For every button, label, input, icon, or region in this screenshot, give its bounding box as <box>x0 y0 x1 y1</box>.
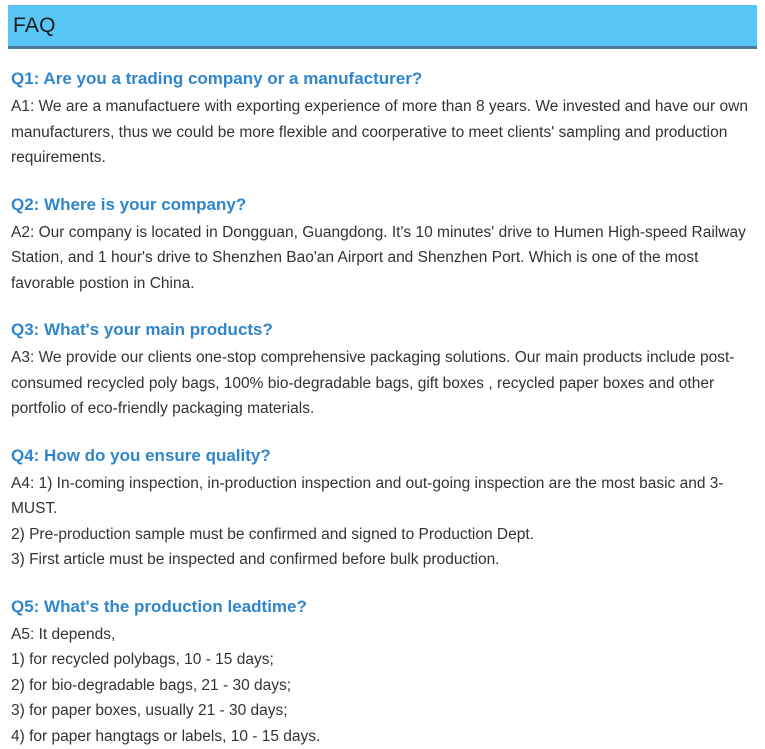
faq-page: FAQ Q1: Are you a trading company or a m… <box>0 0 765 748</box>
faq-answer: A1: We are a manufactuere with exporting… <box>11 94 751 171</box>
faq-answer-line: 1) for recycled polybags, 10 - 15 days; <box>11 647 751 673</box>
faq-answer-line: A1: We are a manufactuere with exporting… <box>11 94 751 171</box>
faq-answer-line: 2) Pre-production sample must be confirm… <box>11 522 751 548</box>
faq-item: Q2: Where is your company? A2: Our compa… <box>11 192 751 297</box>
faq-list: Q1: Are you a trading company or a manuf… <box>11 66 751 749</box>
faq-item: Q3: What's your main products? A3: We pr… <box>11 317 751 422</box>
faq-answer-line: 4) for paper hangtags or labels, 10 - 15… <box>11 724 751 749</box>
faq-answer: A5: It depends, 1) for recycled polybags… <box>11 622 751 749</box>
faq-item: Q4: How do you ensure quality? A4: 1) In… <box>11 443 751 573</box>
faq-answer-line: A4: 1) In-coming inspection, in-producti… <box>11 471 751 522</box>
faq-answer-line: A5: It depends, <box>11 622 751 648</box>
faq-answer-line: 3) for paper boxes, usually 21 - 30 days… <box>11 698 751 724</box>
faq-answer: A3: We provide our clients one-stop comp… <box>11 345 751 422</box>
faq-answer-line: 2) for bio-degradable bags, 21 - 30 days… <box>11 673 751 699</box>
faq-item: Q1: Are you a trading company or a manuf… <box>11 66 751 171</box>
faq-banner: FAQ <box>8 5 757 49</box>
faq-question: Q4: How do you ensure quality? <box>11 443 751 469</box>
faq-answer-line: A3: We provide our clients one-stop comp… <box>11 345 751 422</box>
faq-question: Q2: Where is your company? <box>11 192 751 218</box>
faq-question: Q3: What's your main products? <box>11 317 751 343</box>
faq-question: Q1: Are you a trading company or a manuf… <box>11 66 751 92</box>
faq-question: Q5: What's the production leadtime? <box>11 594 751 620</box>
faq-answer: A4: 1) In-coming inspection, in-producti… <box>11 471 751 573</box>
faq-answer: A2: Our company is located in Dongguan, … <box>11 220 751 297</box>
faq-item: Q5: What's the production leadtime? A5: … <box>11 594 751 749</box>
faq-banner-title: FAQ <box>8 15 56 36</box>
faq-answer-line: A2: Our company is located in Dongguan, … <box>11 220 751 297</box>
faq-answer-line: 3) First article must be inspected and c… <box>11 547 751 573</box>
